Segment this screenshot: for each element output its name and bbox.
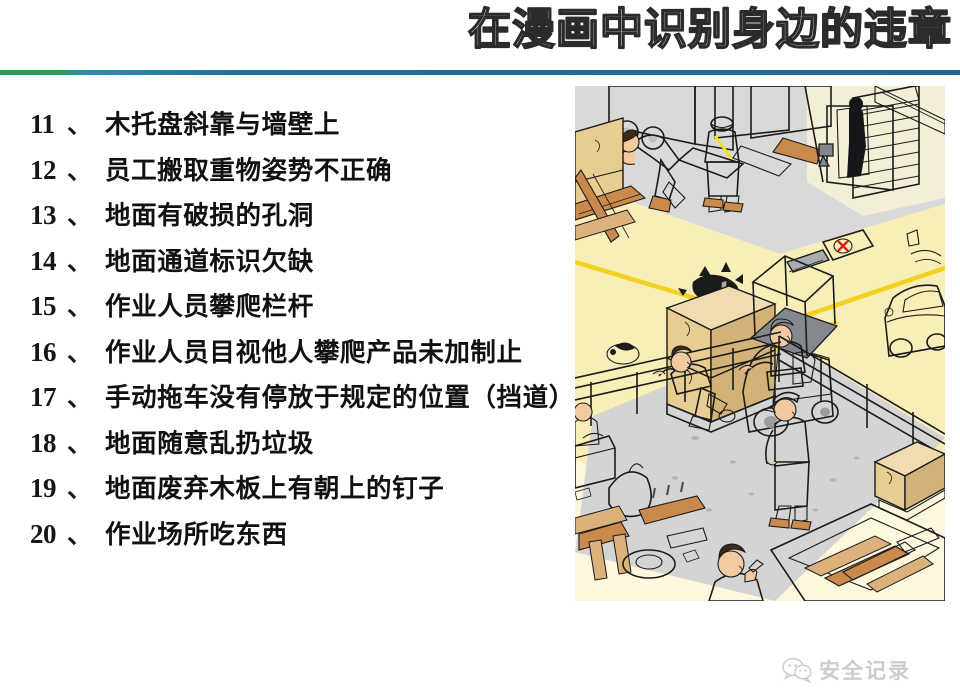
item-separator: 、 (66, 196, 92, 232)
list-item: 15 、 作业人员攀爬栏杆 (30, 286, 570, 332)
item-label: 员工搬取重物姿势不正确 (92, 150, 392, 187)
item-number: 17 (30, 382, 66, 413)
slide-header: 在漫画中识别身边的违章 (0, 0, 960, 76)
item-label: 地面随意乱扔垃圾 (92, 423, 314, 460)
violation-list: 11 、 木托盘斜靠与墙壁上 12 、 员工搬取重物姿势不正确 13 、 地面有… (30, 104, 570, 559)
item-number: 20 (30, 519, 66, 550)
warehouse-cartoon-image: .ln { stroke:#1b1b1b; stroke-width:1.6; … (575, 86, 945, 601)
list-item: 12 、 员工搬取重物姿势不正确 (30, 150, 570, 196)
item-separator: 、 (66, 378, 92, 414)
item-separator: 、 (66, 151, 92, 187)
item-label: 地面废弃木板上有朝上的钉子 (92, 468, 444, 505)
item-separator: 、 (66, 333, 92, 369)
item-label: 手动拖车没有停放于规定的位置（挡道） (92, 377, 575, 414)
item-label: 木托盘斜靠与墙壁上 (92, 104, 340, 141)
item-separator: 、 (66, 105, 92, 141)
watermark-label: 安全记录 (812, 655, 911, 685)
wechat-bubbles-icon (782, 657, 812, 683)
item-separator: 、 (66, 515, 92, 551)
item-label: 作业场所吃东西 (92, 514, 288, 551)
title-divider (0, 70, 960, 75)
item-number: 15 (30, 291, 66, 322)
list-item: 14 、 地面通道标识欠缺 (30, 241, 570, 287)
list-item: 11 、 木托盘斜靠与墙壁上 (30, 104, 570, 150)
item-number: 19 (30, 473, 66, 504)
item-number: 13 (30, 200, 66, 231)
list-item: 19 、 地面废弃木板上有朝上的钉子 (30, 468, 570, 514)
item-separator: 、 (66, 287, 92, 323)
item-number: 14 (30, 246, 66, 277)
slide-canvas: 在漫画中识别身边的违章 11 、 木托盘斜靠与墙壁上 12 、 员工搬取重物姿势… (0, 0, 960, 688)
item-label: 作业人员攀爬栏杆 (92, 286, 314, 323)
item-separator: 、 (66, 242, 92, 278)
item-number: 16 (30, 337, 66, 368)
item-label: 地面有破损的孔洞 (92, 195, 314, 232)
watermark: 安全记录 (782, 655, 952, 685)
item-separator: 、 (66, 469, 92, 505)
item-number: 18 (30, 428, 66, 459)
list-item: 16 、 作业人员目视他人攀爬产品未加制止 (30, 332, 570, 378)
item-number: 11 (30, 109, 66, 140)
item-separator: 、 (66, 424, 92, 460)
list-item: 13 、 地面有破损的孔洞 (30, 195, 570, 241)
item-number: 12 (30, 155, 66, 186)
list-item: 20 、 作业场所吃东西 (30, 514, 570, 560)
list-item: 17 、 手动拖车没有停放于规定的位置（挡道） (30, 377, 570, 423)
page-title: 在漫画中识别身边的违章 (468, 2, 952, 58)
item-label: 作业人员目视他人攀爬产品未加制止 (92, 332, 523, 369)
list-item: 18 、 地面随意乱扔垃圾 (30, 423, 570, 469)
item-label: 地面通道标识欠缺 (92, 241, 314, 278)
